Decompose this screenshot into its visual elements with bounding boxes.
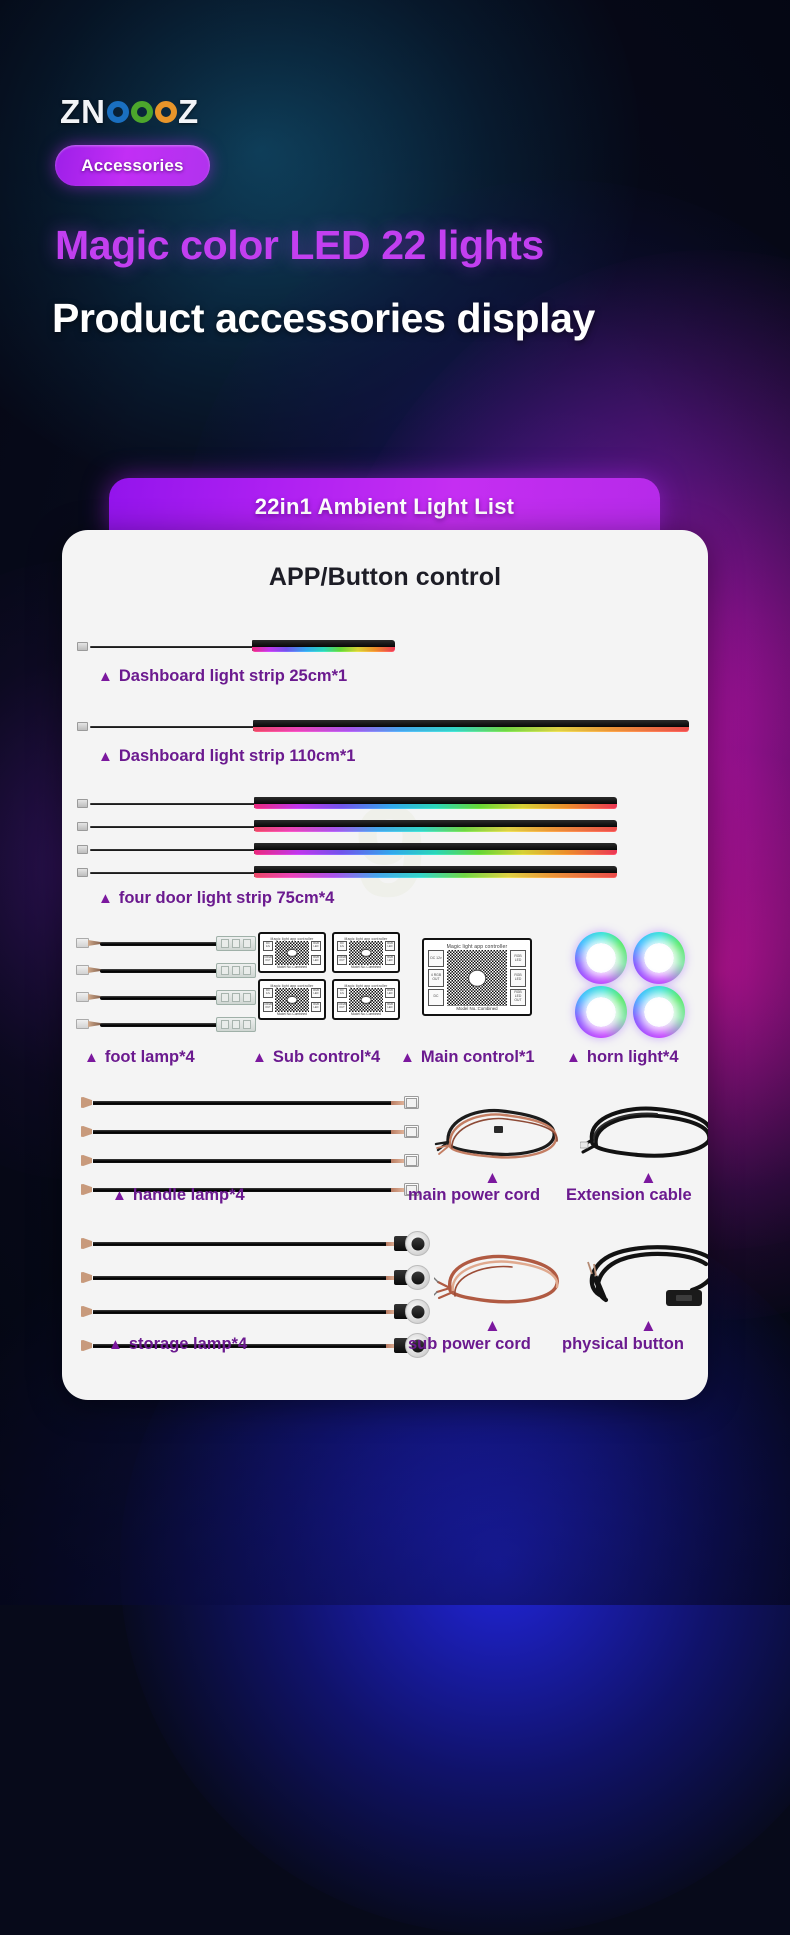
storage-lamp-head-icon	[394, 1299, 424, 1324]
strip-rgb-glow	[254, 804, 617, 809]
door-strip-item	[77, 818, 617, 834]
qr-code-icon	[349, 988, 383, 1012]
orange-ring-icon	[155, 101, 177, 123]
strip-wire	[90, 726, 256, 729]
storage-lamp-head-icon	[394, 1231, 424, 1256]
blue-ring-icon	[107, 101, 129, 123]
item-label-text: Dashboard light strip 25cm*1	[119, 667, 347, 686]
module-right-pads: RGB LED RGB LED	[385, 941, 395, 965]
cord	[93, 1101, 403, 1106]
cord-red-section	[391, 1188, 405, 1192]
handle-lamp-item	[76, 1154, 421, 1167]
item-label-text: foot lamp*4	[105, 1048, 195, 1067]
module-right-pads: RGB LED RGB LED	[385, 988, 395, 1012]
pad: RGB LED	[311, 955, 321, 965]
led-cell	[232, 993, 240, 1002]
main-control-module: Magic light app controller DC 12v 4 RGB …	[422, 938, 532, 1016]
triangle-marker-icon: ▲	[252, 1049, 267, 1066]
module-body: DC 12v 4 RGB OUT RGB LED RGB LED	[337, 988, 395, 1012]
sub-control-module: Magic light app controller DC 12v 4 RGB …	[332, 932, 400, 973]
arrow-physical-button: ▲	[640, 1316, 657, 1336]
strip-body	[254, 820, 617, 831]
module-right-pads: RGB LED RGB LED RGB LED OUT	[510, 950, 526, 1006]
extension-cable-graphic	[580, 1098, 708, 1168]
pad: RGB LED OUT	[510, 989, 526, 1006]
wire-tip-icon	[76, 1097, 92, 1108]
item-label-text: storage lamp*4	[129, 1335, 247, 1354]
cord	[93, 1130, 403, 1135]
cord	[93, 1276, 393, 1281]
item-label-dashboard-25: ▲ Dashboard light strip 25cm*1	[98, 667, 347, 686]
list-banner-label: 22in1 Ambient Light List	[255, 494, 514, 520]
module-footer-text: Model No.:Combined	[334, 1012, 398, 1016]
lamp-lens	[405, 1299, 430, 1324]
pad: DC 12v	[263, 941, 273, 951]
triangle-marker-icon: ▲	[108, 1336, 123, 1353]
lamp-lens	[405, 1231, 430, 1256]
module-left-pads: DC 12v 4 RGB OUT	[263, 988, 273, 1012]
door-strip-group	[77, 795, 617, 880]
item-label-horn-light: ▲ horn light*4	[566, 1048, 679, 1067]
horn-light-item	[633, 986, 685, 1038]
pad: 4 RGB OUT	[428, 969, 444, 986]
item-label-door-strip: ▲ four door light strip 75cm*4	[98, 889, 334, 908]
item-label-dashboard-110: ▲ Dashboard light strip 110cm*1	[98, 747, 355, 766]
led-cell	[243, 966, 251, 975]
cord	[93, 1242, 393, 1247]
qr-code-icon	[275, 941, 309, 965]
led-cell	[243, 993, 251, 1002]
handle-lamp-item	[76, 1096, 421, 1109]
strip-wire	[90, 826, 257, 829]
door-strip-item	[77, 795, 617, 811]
module-left-pads: DC 12v 4 RGB OUT	[337, 988, 347, 1012]
plug-icon	[76, 965, 89, 975]
list-banner: 22in1 Ambient Light List	[109, 478, 660, 536]
cord	[100, 969, 218, 973]
horn-light-item	[575, 986, 627, 1038]
cord	[100, 996, 218, 1000]
foot-lamp-item	[76, 963, 261, 977]
cord-red-section	[391, 1159, 405, 1163]
led-cell	[232, 939, 240, 948]
led-cell	[221, 939, 229, 948]
module-body: DC 12v 4 RGB OUT RGB LED RGB LED	[337, 941, 395, 965]
wire-tip-icon	[76, 1306, 92, 1317]
module-left-pads: DC 12v 4 RGB OUT DC	[428, 950, 444, 1006]
triangle-marker-icon: ▲	[112, 1187, 127, 1204]
item-label-foot-lamp: ▲ foot lamp*4	[84, 1048, 195, 1067]
item-label-extension-cable: Extension cable	[566, 1186, 692, 1205]
triangle-marker-icon: ▲	[98, 748, 113, 765]
led-cell	[232, 1020, 240, 1029]
module-footer-text: Model No.:Combined	[334, 965, 398, 969]
pad: 4 RGB OUT	[263, 955, 273, 965]
plug-icon	[76, 992, 89, 1002]
accessories-badge-label: Accessories	[81, 156, 183, 176]
pad: RGB LED	[385, 988, 395, 998]
module-footer-text: Model No.:Combined	[260, 965, 324, 969]
storage-lamp-item	[76, 1237, 426, 1250]
pad: DC 12v	[263, 988, 273, 998]
strip-connector-icon	[77, 722, 88, 731]
module-left-pads: DC 12v 4 RGB OUT	[337, 941, 347, 965]
accessories-badge[interactable]: Accessories	[55, 145, 210, 186]
strip-connector-icon	[77, 642, 88, 651]
qr-code-icon	[447, 950, 507, 1006]
item-label-text: Main control*1	[421, 1048, 535, 1067]
storage-lamp-item	[76, 1271, 426, 1284]
pad: RGB LED	[311, 1002, 321, 1012]
led-cell	[243, 939, 251, 948]
foot-lamp-module	[216, 1017, 256, 1032]
cord	[100, 1023, 218, 1027]
item-label-storage-lamp: ▲ storage lamp*4	[108, 1335, 247, 1354]
pad: DC 12v	[337, 988, 347, 998]
foot-lamp-module	[216, 963, 256, 978]
logo-text-right: Z	[178, 95, 199, 128]
pad: RGB LED	[510, 950, 526, 967]
item-label-physical-button: physical button	[562, 1335, 684, 1354]
physical-button-graphic	[580, 1240, 708, 1316]
cord-red-section	[391, 1130, 405, 1134]
dashboard-110-graphic	[77, 718, 689, 734]
foot-lamp-module	[216, 936, 256, 951]
module-right-pads: RGB LED RGB LED	[311, 941, 321, 965]
arrow-main-power-cord: ▲	[484, 1168, 501, 1188]
led-cell	[221, 1020, 229, 1029]
led-cell	[221, 993, 229, 1002]
door-strip-item	[77, 864, 617, 880]
horn-light-item	[633, 932, 685, 984]
dashboard-25-graphic	[77, 638, 397, 654]
pad: RGB LED	[311, 988, 321, 998]
main-power-cord-graphic	[434, 1098, 564, 1168]
cord	[93, 1310, 393, 1315]
led-cell	[221, 966, 229, 975]
sub-control-module: Magic light app controller DC 12v 4 RGB …	[332, 979, 400, 1020]
plug-icon	[76, 938, 89, 948]
triangle-marker-icon: ▲	[566, 1049, 581, 1066]
sub-power-cord-graphic	[434, 1242, 564, 1314]
foot-lamp-item	[76, 990, 261, 1004]
pad: RGB LED	[510, 969, 526, 986]
strip-body	[254, 866, 617, 877]
green-ring-icon	[131, 101, 153, 123]
triangle-marker-icon: ▲	[84, 1049, 99, 1066]
item-label-handle-lamp: ▲ handle lamp*4	[112, 1186, 245, 1205]
module-body: DC 12v 4 RGB OUT DC RGB LED RGB LED RGB …	[428, 950, 526, 1006]
brand-logo: ZN Z	[60, 95, 199, 128]
item-label-sub-power-cord: sub power cord	[408, 1335, 531, 1354]
page-title-purple: Magic color LED 22 lights	[55, 222, 544, 269]
strip-body	[254, 843, 617, 854]
logo-text-left: ZN	[60, 95, 106, 128]
pad: 4 RGB OUT	[263, 1002, 273, 1012]
strip-wire	[90, 803, 257, 806]
pad: 4 RGB OUT	[337, 1002, 347, 1012]
foot-lamp-item	[76, 1017, 261, 1031]
arrow-extension-cable: ▲	[640, 1168, 657, 1188]
wire-tip-icon	[76, 1155, 92, 1166]
cord	[93, 1159, 403, 1164]
cord	[100, 942, 218, 946]
module-right-pads: RGB LED RGB LED	[311, 988, 321, 1012]
triangle-marker-icon: ▲	[98, 668, 113, 685]
wire-tip-icon	[76, 1126, 92, 1137]
led-cell	[232, 966, 240, 975]
strip-body	[254, 797, 617, 808]
sub-control-group: Magic light app controller DC 12v 4 RGB …	[258, 932, 400, 1020]
pad: RGB LED	[385, 1002, 395, 1012]
page-title-white: Product accessories display	[52, 295, 595, 342]
strip-wire	[90, 872, 257, 875]
wire-tip-icon	[76, 1184, 92, 1195]
strip-connector-icon	[77, 868, 88, 877]
lamp-lens	[405, 1265, 430, 1290]
arrow-sub-power-cord: ▲	[484, 1316, 501, 1336]
strip-rgb-glow	[254, 827, 617, 832]
strip-connector-icon	[77, 822, 88, 831]
triangle-marker-icon: ▲	[98, 890, 113, 907]
strip-rgb-glow	[254, 850, 617, 855]
qr-code-icon	[349, 941, 383, 965]
wire-tip-icon	[76, 1238, 92, 1249]
item-label-sub-control: ▲ Sub control*4	[252, 1048, 380, 1067]
module-footer-text: Model No.:Combined	[424, 1006, 530, 1011]
horn-light-item	[575, 932, 627, 984]
handle-lamp-item	[76, 1125, 421, 1138]
pad: DC 12v	[428, 950, 444, 967]
strip-connector-icon	[77, 845, 88, 854]
pad: RGB LED	[385, 955, 395, 965]
strip-rgb-glow	[253, 727, 689, 732]
module-body: DC 12v 4 RGB OUT RGB LED RGB LED	[263, 988, 321, 1012]
sub-control-module: Magic light app controller DC 12v 4 RGB …	[258, 979, 326, 1020]
strip-connector-icon	[77, 799, 88, 808]
strip-rgb-glow	[252, 647, 395, 652]
foot-lamp-module	[216, 990, 256, 1005]
storage-lamp-head-icon	[394, 1265, 424, 1290]
wire-tip-icon	[76, 1340, 92, 1351]
foot-lamp-group	[76, 936, 261, 1031]
connector-socket-icon	[404, 1125, 419, 1138]
triangle-marker-icon: ▲	[400, 1049, 415, 1066]
wire-tip-icon	[76, 1272, 92, 1283]
led-cell	[243, 1020, 251, 1029]
sub-control-module: Magic light app controller DC 12v 4 RGB …	[258, 932, 326, 973]
strip-body	[252, 640, 395, 651]
pad: DC 12v	[337, 941, 347, 951]
plug-icon	[76, 1019, 89, 1029]
item-label-main-power-cord: main power cord	[408, 1186, 540, 1205]
connector-socket-icon	[404, 1154, 419, 1167]
strip-wire	[90, 849, 257, 852]
horn-light-group	[575, 932, 691, 1040]
module-left-pads: DC 12v 4 RGB OUT	[263, 941, 273, 965]
qr-code-icon	[275, 988, 309, 1012]
accessories-card: APP/Button control 9 ▲ Dashboard light s…	[62, 530, 708, 1400]
storage-lamp-item	[76, 1305, 426, 1318]
pad: RGB LED	[311, 941, 321, 951]
item-label-text: handle lamp*4	[133, 1186, 245, 1205]
cord-red-section	[391, 1101, 405, 1105]
card-subtitle: APP/Button control	[62, 563, 708, 592]
module-footer-text: Model No.:Combined	[260, 1012, 324, 1016]
item-label-text: Sub control*4	[273, 1048, 380, 1067]
pad: RGB LED	[385, 941, 395, 951]
strip-rgb-glow	[254, 873, 617, 878]
item-label-main-control: ▲ Main control*1	[400, 1048, 535, 1067]
door-strip-item	[77, 841, 617, 857]
item-label-text: Dashboard light strip 110cm*1	[119, 747, 356, 766]
item-label-text: horn light*4	[587, 1048, 679, 1067]
strip-wire	[90, 646, 255, 649]
item-label-text: four door light strip 75cm*4	[119, 889, 334, 908]
foot-lamp-item	[76, 936, 261, 950]
pad: DC	[428, 989, 444, 1006]
handle-lamp-group	[76, 1096, 421, 1196]
module-body: DC 12v 4 RGB OUT RGB LED RGB LED	[263, 941, 321, 965]
pad: 4 RGB OUT	[337, 955, 347, 965]
connector-socket-icon	[404, 1096, 419, 1109]
strip-body	[253, 720, 689, 731]
